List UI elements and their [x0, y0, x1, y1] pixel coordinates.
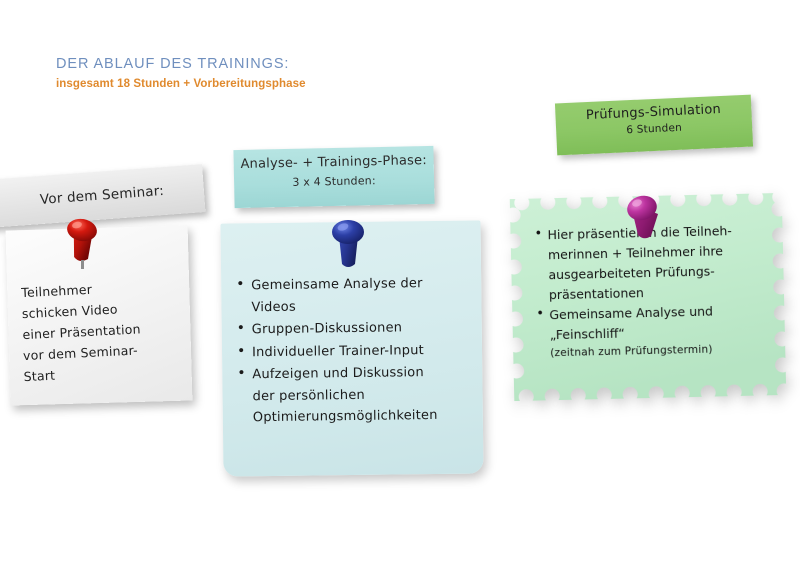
title-heading: DER ABLAUF DES TRAININGS: — [56, 57, 476, 73]
red-pushpin — [58, 216, 110, 276]
page-title: DER ABLAUF DES TRAININGS: insgesamt 18 S… — [56, 57, 476, 90]
blue-pushpin — [322, 216, 376, 278]
list-item: Gemeinsame Analyse und „Feinschliff“ — [536, 300, 769, 345]
bullet-line: Optimierungsmöglichkeiten — [253, 408, 438, 425]
bullet-line: Videos — [251, 299, 296, 315]
bullet-line: „Feinschliff“ — [550, 326, 625, 343]
title-subheading: insgesamt 18 Stunden + Vorbereitungsphas… — [56, 78, 476, 90]
bullet-line: der persönlichen — [252, 387, 365, 403]
slide-canvas: DER ABLAUF DES TRAININGS: insgesamt 18 S… — [0, 0, 800, 565]
list-item: Gruppen-Diskussionen — [236, 317, 472, 341]
banner-analysis-training-subheading: 3 x 4 Stunden: — [234, 173, 434, 190]
bullet-line: präsentationen — [549, 285, 644, 302]
bullet-line: Gemeinsame Analyse und — [549, 304, 713, 323]
bullet-line: ausgearbeiteten Prüfungs- — [548, 263, 715, 282]
list-item: Gemeinsame Analyse der Videos — [235, 273, 472, 319]
bullet-line: Aufzeigen und Diskussion — [252, 365, 424, 382]
bullet-line: Gemeinsame Analyse der — [251, 276, 423, 293]
banner-exam-simulation: Prüfungs-Simulation 6 Stunden — [555, 95, 753, 156]
banner-analysis-training: Analyse- + Trainings-Phase: 3 x 4 Stunde… — [233, 146, 434, 208]
banner-analysis-training-heading: Analyse- + Trainings-Phase: — [234, 153, 434, 172]
magenta-pushpin — [618, 192, 674, 248]
bullet-line: Gruppen-Diskussionen — [252, 320, 403, 337]
note-analysis-training-list: Gemeinsame Analyse der Videos Gruppen-Di… — [235, 273, 473, 429]
list-item: Aufzeigen und Diskussion der persönliche… — [236, 362, 473, 429]
list-item: Individueller Trainer-Input — [236, 339, 472, 363]
bullet-line: Individueller Trainer-Input — [252, 343, 424, 360]
banner-before-seminar-heading: Vor dem Seminar: — [39, 183, 164, 208]
